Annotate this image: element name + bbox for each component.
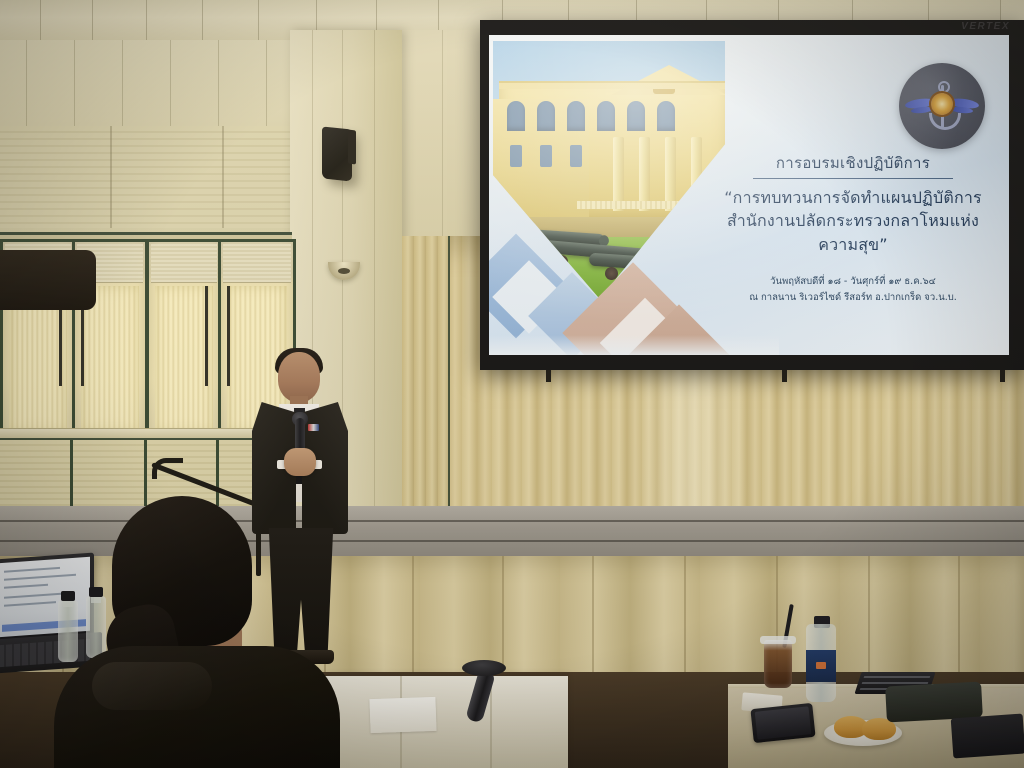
- laptop-closed[interactable]: [951, 714, 1024, 759]
- table-microphone: [462, 660, 522, 732]
- seated-attendee-foreground: [64, 496, 330, 768]
- slide-venue-line: ณ กาลนาน ริเวอร์ไซด์ รีสอร์ท อ.ปากเกร็ด …: [707, 290, 999, 306]
- iced-coffee-cup: [764, 640, 792, 688]
- smartphone[interactable]: [750, 703, 815, 743]
- lapel-pin: [308, 424, 319, 431]
- attendee-shoulder-highlight: [92, 662, 212, 710]
- slide-surface: การอบรมเชิงปฏิบัติการ “การทบทวนการจัดทำแ…: [489, 35, 1009, 355]
- water-bottle-label-mark: [816, 662, 826, 669]
- slide-date-line: วันพฤหัสบดีที่ ๑๘ - วันศุกร์ที่ ๑๙ ธ.ค.๖…: [707, 274, 999, 290]
- speaker-bracket: [348, 129, 356, 164]
- screen-drop-leg: [546, 370, 551, 382]
- projector-brand-label: VERTEX: [961, 21, 1010, 32]
- presenter-hands: [284, 448, 316, 476]
- slide-heading-rule: [753, 178, 953, 179]
- paper-sheet: [369, 697, 436, 733]
- screen-drop-leg: [1000, 370, 1005, 382]
- ministry-of-defence-emblem-icon: [899, 63, 985, 149]
- chair-back: [0, 250, 96, 310]
- slide-title-line-2: สำนักงานปลัดกระทรวงกลาโหมแห่งความสุข”: [707, 209, 999, 255]
- slide-heading: การอบรมเชิงปฏิบัติการ: [707, 153, 999, 173]
- phone-screen[interactable]: [755, 706, 812, 739]
- projection-screen[interactable]: VERTEX: [480, 20, 1024, 370]
- presenter-head: [278, 352, 320, 402]
- conference-room-photo: VERTEX: [0, 0, 1024, 768]
- slide-title-line-1: “การทบทวนการจัดทำแผนปฏิบัติการ: [707, 186, 999, 209]
- cup-lid: [760, 636, 796, 644]
- stage-curtain-side: [402, 236, 450, 536]
- slide-text-block: การอบรมเชิงปฏิบัติการ “การทบทวนการจัดทำแ…: [707, 153, 999, 306]
- screen-drop-leg: [782, 370, 787, 382]
- decor-fade-mask: [489, 335, 779, 355]
